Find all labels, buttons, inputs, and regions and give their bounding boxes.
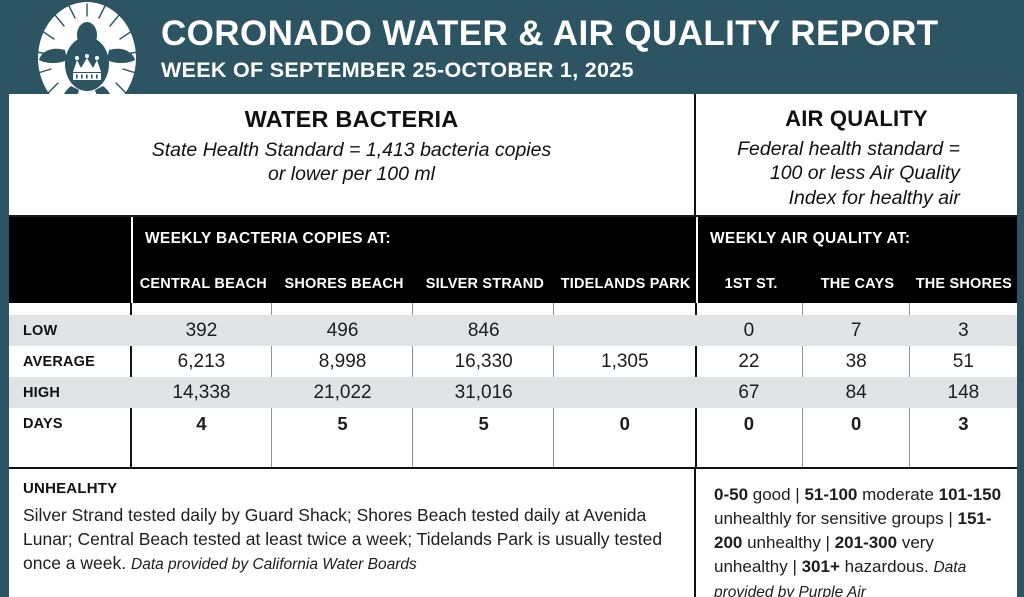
water-column-headers: WEEKLY BACTERIA COPIES AT: CENTRAL BEACH… — [131, 217, 696, 303]
row-label-high: HIGH — [9, 385, 131, 401]
aqi-range-201-300: 201-300 — [835, 533, 897, 552]
row-days-air-cells: 0 0 3 — [695, 413, 1017, 435]
cell-high-the-shores: 148 — [910, 382, 1017, 404]
table-row: LOW 392 496 846 0 7 3 — [9, 315, 1017, 346]
data-rows: LOW 392 496 846 0 7 3 AVERAGE 6,213 8,99… — [9, 303, 1017, 439]
aqi-range-101-150: 101-150 — [939, 485, 1001, 504]
air-standard-line1: Federal health standard = — [737, 137, 960, 161]
air-section-title: AIR QUALITY — [785, 106, 928, 132]
aqi-label-moderate: moderate — [857, 485, 938, 504]
air-standard-note: Federal health standard = 100 or less Ai… — [737, 137, 976, 210]
aqi-range-0-50: 0-50 — [714, 485, 748, 504]
cell-low-the-cays: 7 — [803, 320, 910, 342]
water-footnote-source: Data provided by California Water Boards — [131, 556, 417, 573]
air-column-names: 1ST ST. THE CAYS THE SHORES — [698, 276, 1017, 292]
row-label-days: DAYS — [9, 416, 131, 432]
row-average-air-cells: 22 38 51 — [695, 351, 1017, 373]
table-row: DAYS 4 5 5 0 0 0 3 — [9, 408, 1017, 439]
aqi-label-good: good | — [748, 485, 804, 504]
water-column-caption: WEEKLY BACTERIA COPIES AT: — [133, 217, 696, 248]
water-section-title: WATER BACTERIA — [245, 106, 459, 133]
cell-days-tidelands-park: 0 — [554, 413, 695, 435]
water-section-heading: WATER BACTERIA State Health Standard = 1… — [9, 94, 696, 215]
air-quality-scale: 0-50 good | 51-100 moderate 101-150 unhe… — [714, 483, 1005, 597]
report-page: CORONADO WATER & AIR QUALITY REPORT WEEK… — [0, 0, 1024, 597]
water-footnote-title: UNHEALHTY — [23, 480, 676, 497]
air-column-the-cays: THE CAYS — [804, 276, 910, 292]
air-column-1st-st: 1ST ST. — [698, 276, 804, 292]
row-high-air-cells: 67 84 148 — [695, 382, 1017, 404]
air-section-heading: AIR QUALITY Federal health standard = 10… — [696, 94, 1017, 215]
column-header-row: WEEKLY BACTERIA COPIES AT: CENTRAL BEACH… — [9, 217, 1017, 303]
air-quality-legend: 0-50 good | 51-100 moderate 101-150 unhe… — [696, 469, 1017, 597]
banner-text-block: CORONADO WATER & AIR QUALITY REPORT WEEK… — [161, 11, 939, 84]
aqi-label-hazardous: hazardous. — [840, 557, 934, 576]
cell-days-the-cays: 0 — [803, 413, 910, 435]
cell-low-shores-beach: 496 — [272, 320, 413, 342]
row-days-water-cells: 4 5 5 0 — [131, 413, 695, 435]
aqi-label-unhealthy: unhealthy | — [742, 533, 834, 552]
report-banner: CORONADO WATER & AIR QUALITY REPORT WEEK… — [9, 0, 1017, 94]
cell-days-1st-st: 0 — [695, 413, 802, 435]
water-footnote: UNHEALHTY Silver Strand tested daily by … — [9, 469, 696, 597]
cell-average-silver-strand: 16,330 — [413, 351, 554, 373]
cell-high-silver-strand: 31,016 — [413, 382, 554, 404]
report-subtitle: WEEK OF SEPTEMBER 25-OCTOBER 1, 2025 — [161, 58, 939, 83]
cell-average-shores-beach: 8,998 — [272, 351, 413, 373]
water-standard-line2: or lower per 100 ml — [152, 162, 551, 186]
row-high-water-cells: 14,338 21,022 31,016 — [131, 382, 695, 404]
row-low-air-cells: 0 7 3 — [695, 320, 1017, 342]
data-table: LOW 392 496 846 0 7 3 AVERAGE 6,213 8,99… — [9, 303, 1017, 467]
table-row: AVERAGE 6,213 8,998 16,330 1,305 22 38 5… — [9, 346, 1017, 377]
cell-high-tidelands-park — [554, 382, 695, 404]
cell-low-tidelands-park — [554, 320, 695, 342]
air-standard-line3: Index for healthy air — [737, 186, 960, 210]
cell-days-the-shores: 3 — [910, 413, 1017, 435]
aqi-range-301-plus: 301+ — [802, 557, 840, 576]
row-label-low: LOW — [9, 323, 131, 339]
water-standard-note: State Health Standard = 1,413 bacteria c… — [152, 138, 551, 187]
cell-high-shores-beach: 21,022 — [272, 382, 413, 404]
row-low-water-cells: 392 496 846 — [131, 320, 695, 342]
report-title: CORONADO WATER & AIR QUALITY REPORT — [161, 15, 939, 53]
section-headings-row: WATER BACTERIA State Health Standard = 1… — [9, 94, 1017, 217]
cell-average-tidelands-park: 1,305 — [554, 351, 695, 373]
footer-row: UNHEALHTY Silver Strand tested daily by … — [9, 467, 1017, 597]
cell-low-central-beach: 392 — [131, 320, 272, 342]
cell-average-1st-st: 22 — [695, 351, 802, 373]
aqi-label-sensitive: unhealthly for sensitive groups | — [714, 509, 958, 528]
column-header-corner — [9, 217, 131, 303]
cell-days-central-beach: 4 — [131, 413, 272, 435]
cell-average-central-beach: 6,213 — [131, 351, 272, 373]
cell-days-shores-beach: 5 — [272, 413, 413, 435]
water-footnote-body: Silver Strand tested daily by Guard Shac… — [23, 503, 676, 576]
cell-days-silver-strand: 5 — [413, 413, 554, 435]
cell-average-the-shores: 51 — [910, 351, 1017, 373]
air-column-caption: WEEKLY AIR QUALITY AT: — [698, 217, 1017, 248]
table-row: HIGH 14,338 21,022 31,016 67 84 148 — [9, 377, 1017, 408]
water-column-central-beach: CENTRAL BEACH — [133, 276, 274, 292]
water-column-shores-beach: SHORES BEACH — [274, 276, 415, 292]
cell-high-1st-st: 67 — [695, 382, 802, 404]
air-column-the-shores: THE SHORES — [911, 276, 1017, 292]
water-column-silver-strand: SILVER STRAND — [415, 276, 556, 292]
water-column-tidelands-park: TIDELANDS PARK — [555, 276, 696, 292]
air-column-headers: WEEKLY AIR QUALITY AT: 1ST ST. THE CAYS … — [696, 217, 1017, 303]
water-column-names: CENTRAL BEACH SHORES BEACH SILVER STRAND… — [133, 276, 696, 292]
turtle-crown-logo-icon — [27, 2, 147, 94]
row-label-average: AVERAGE — [9, 354, 131, 370]
aqi-range-51-100: 51-100 — [804, 485, 857, 504]
cell-low-the-shores: 3 — [910, 320, 1017, 342]
air-standard-line2: 100 or less Air Quality — [737, 161, 960, 185]
row-average-water-cells: 6,213 8,998 16,330 1,305 — [131, 351, 695, 373]
cell-high-central-beach: 14,338 — [131, 382, 272, 404]
cell-high-the-cays: 84 — [803, 382, 910, 404]
water-standard-line1: State Health Standard = 1,413 bacteria c… — [152, 138, 551, 162]
cell-low-silver-strand: 846 — [413, 320, 554, 342]
cell-low-1st-st: 0 — [695, 320, 802, 342]
cell-average-the-cays: 38 — [803, 351, 910, 373]
